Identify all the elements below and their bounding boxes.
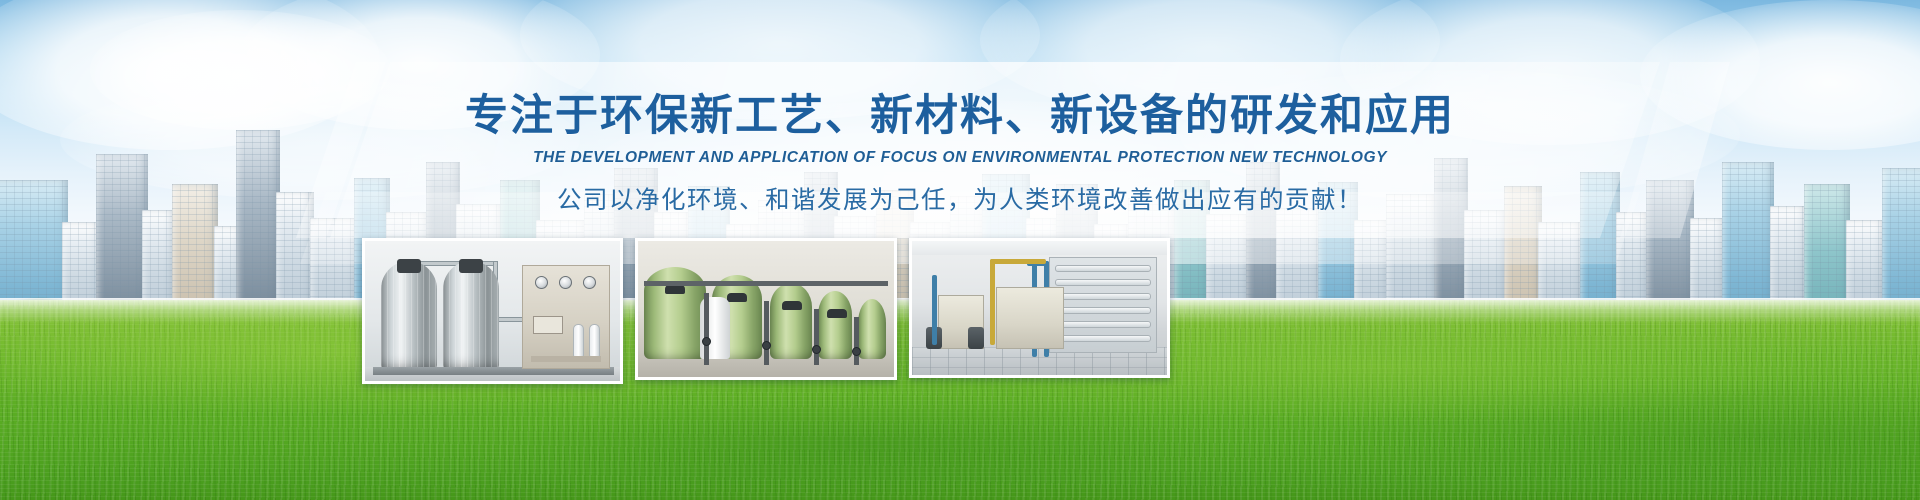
hero-banner: 专注于环保新工艺、新材料、新设备的研发和应用 THE DEVELOPMENT A…	[0, 0, 1920, 500]
banner-tagline: 公司以净化环境、和谐发展为己任，为人类环境改善做出应有的贡献！	[0, 181, 1920, 216]
banner-subheadline: THE DEVELOPMENT AND APPLICATION OF FOCUS…	[0, 149, 1920, 167]
photo-reverse-osmosis-plant-hall[interactable]	[909, 238, 1170, 378]
photo-green-frp-filter-tank-row[interactable]	[635, 238, 896, 380]
photo-strip	[362, 238, 1170, 384]
banner-text-block: 专注于环保新工艺、新材料、新设备的研发和应用 THE DEVELOPMENT A…	[0, 92, 1920, 216]
banner-headline: 专注于环保新工艺、新材料、新设备的研发和应用	[0, 92, 1920, 140]
photo-stainless-steel-water-treatment-tanks[interactable]	[362, 238, 623, 384]
